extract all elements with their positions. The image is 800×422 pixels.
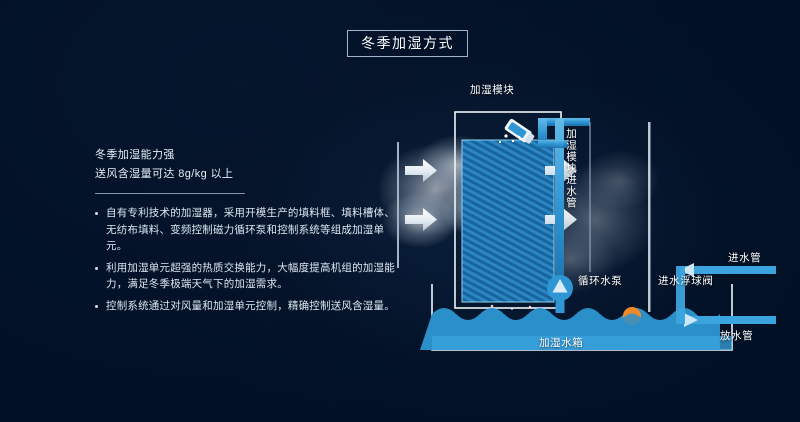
label-circulation-pump: 循环水泵	[578, 273, 622, 288]
float-ball-icon	[623, 307, 641, 326]
label-humidification-module: 加湿模块	[470, 82, 514, 97]
diagram-canvas	[380, 70, 790, 360]
fill-media	[462, 140, 554, 302]
list-item: 控制系统通过对风量和加湿单元控制，精确控制送风含湿量。	[95, 298, 395, 315]
list-item: 自有专利技术的加湿器，采用开模生产的填料框、填料槽体、无纺布填料、变频控制磁力循…	[95, 205, 395, 255]
lead-line-2: 送风含湿量可达 8g/kg 以上	[95, 165, 395, 184]
page-title: 冬季加湿方式	[347, 30, 468, 57]
label-module-inlet-pipe: 加湿模块进水管	[565, 128, 576, 209]
float-valve-stem	[648, 122, 651, 312]
description-panel: 冬季加湿能力强 送风含湿量可达 8g/kg 以上 自有专利技术的加湿器，采用开模…	[95, 146, 395, 319]
lead-line-1: 冬季加湿能力强	[95, 146, 395, 165]
label-inlet-pipe: 进水管	[728, 250, 761, 265]
label-float-valve: 进水浮球阀	[658, 273, 714, 288]
label-drain-pipe: 放水管	[720, 328, 753, 343]
label-water-tank: 加湿水箱	[539, 335, 583, 350]
feature-bullet-list: 自有专利技术的加湿器，采用开模生产的填料框、填料槽体、无纺布填料、变频控制磁力循…	[95, 205, 395, 314]
divider	[95, 193, 245, 194]
humidification-diagram: 加湿模块 加湿模块进水管 循环水泵 进水浮球阀 进水管 放水管 加湿水箱	[380, 70, 790, 360]
list-item: 利用加湿单元超强的热质交换能力，大幅度提高机组的加湿能力，满足冬季极端天气下的加…	[95, 260, 395, 293]
